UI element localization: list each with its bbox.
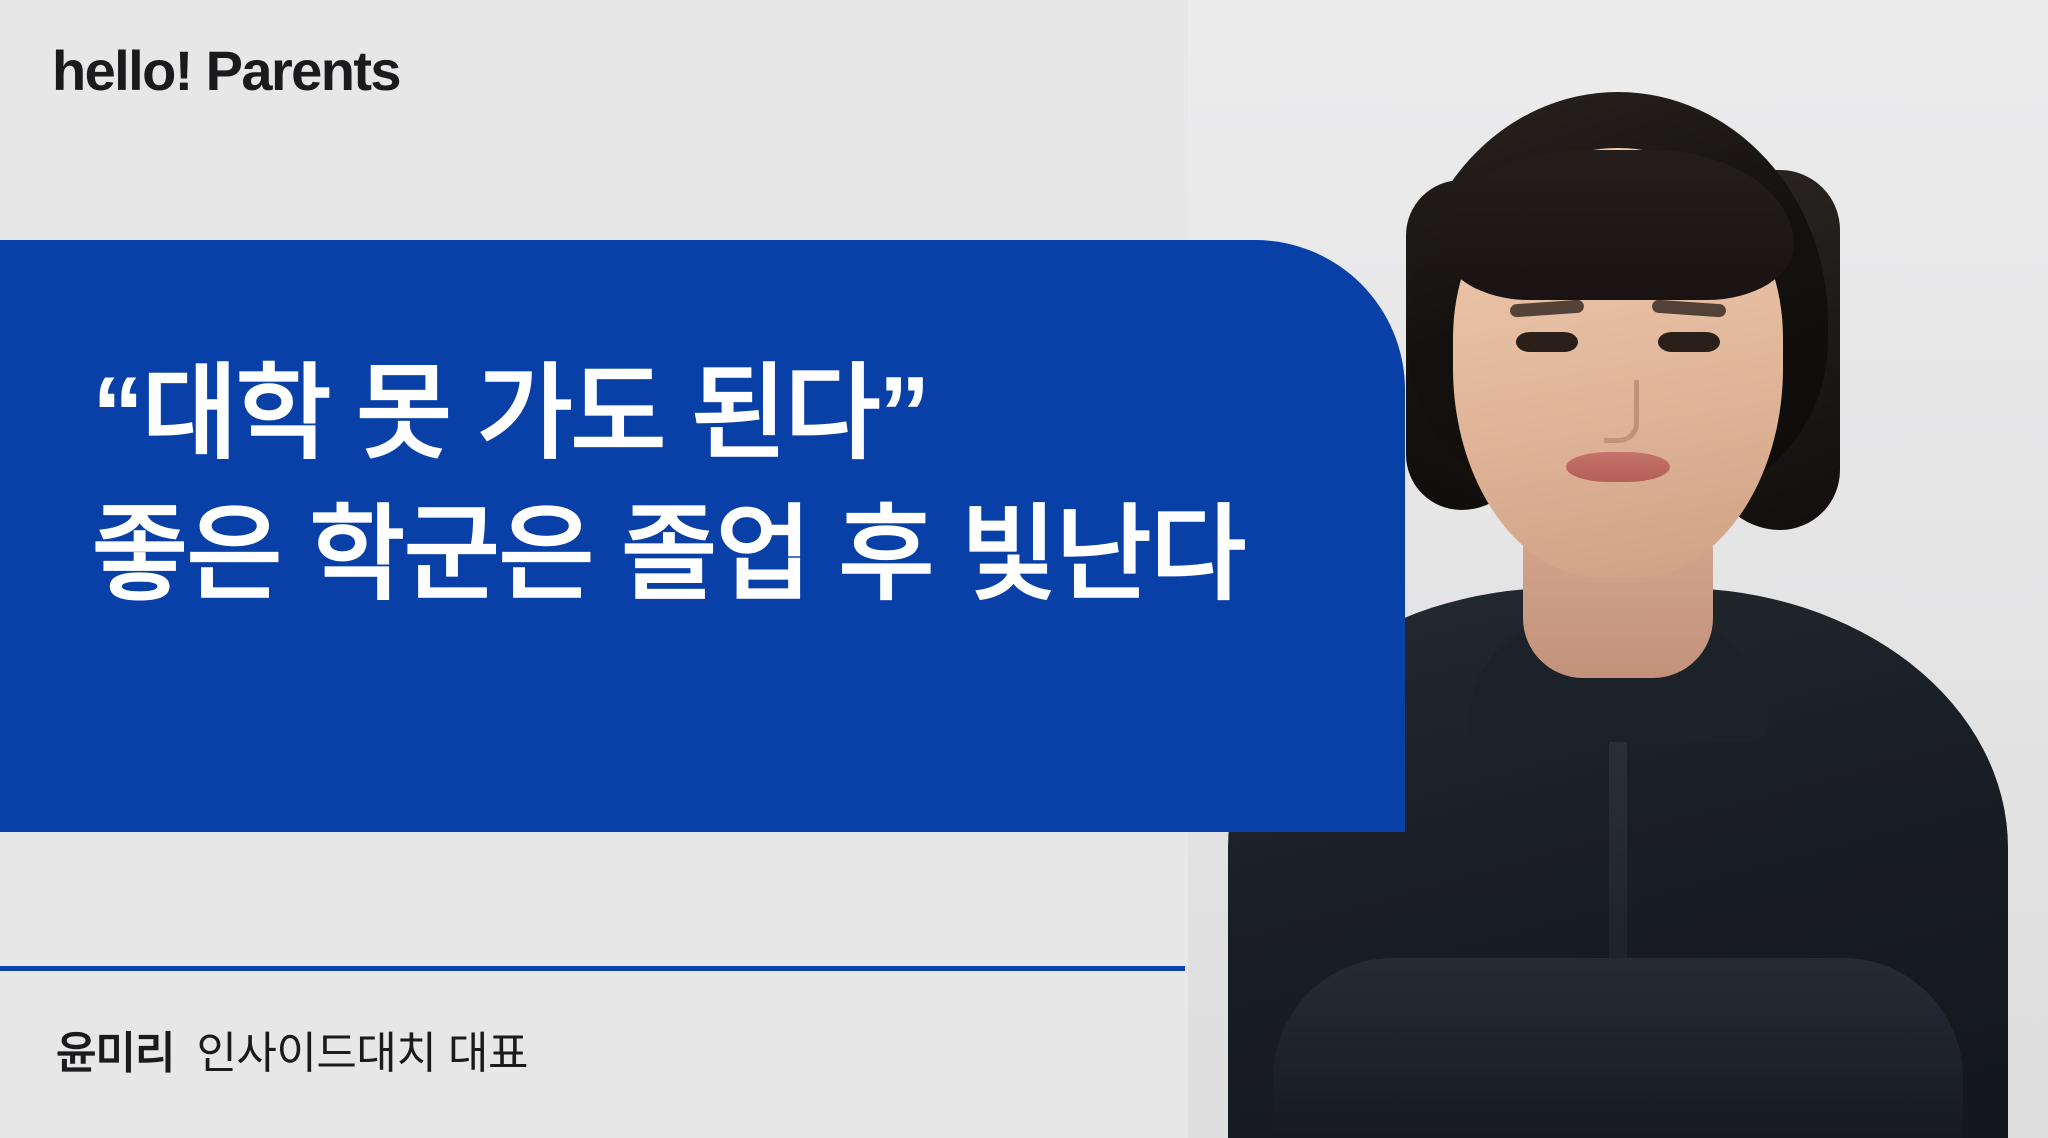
byline: 윤미리인사이드대치 대표 [56,1032,528,1076]
headline: “대학 못 가도 된다” 좋은 학군은 졸업 후 빛난다 [92,344,1442,627]
portrait-fringe [1442,150,1794,300]
headline-line-1: “대학 못 가도 된다” [92,344,1442,485]
brand-logo: hello! Parents [52,43,400,99]
byline-name: 윤미리 [56,1029,174,1078]
portrait-mouth [1566,452,1670,482]
headline-line-2: 좋은 학군은 졸업 후 빛난다 [92,485,1442,626]
portrait-folded-arms [1273,958,1963,1138]
portrait-eye-right [1658,332,1720,352]
byline-role: 인사이드대치 대표 [196,1029,528,1078]
article-card: hello! Parents “대학 못 가도 된다” 좋은 학군은 졸업 후 … [0,0,2048,1138]
byline-divider [0,966,1185,971]
portrait-nose [1604,380,1639,443]
portrait-eye-left [1516,332,1578,352]
